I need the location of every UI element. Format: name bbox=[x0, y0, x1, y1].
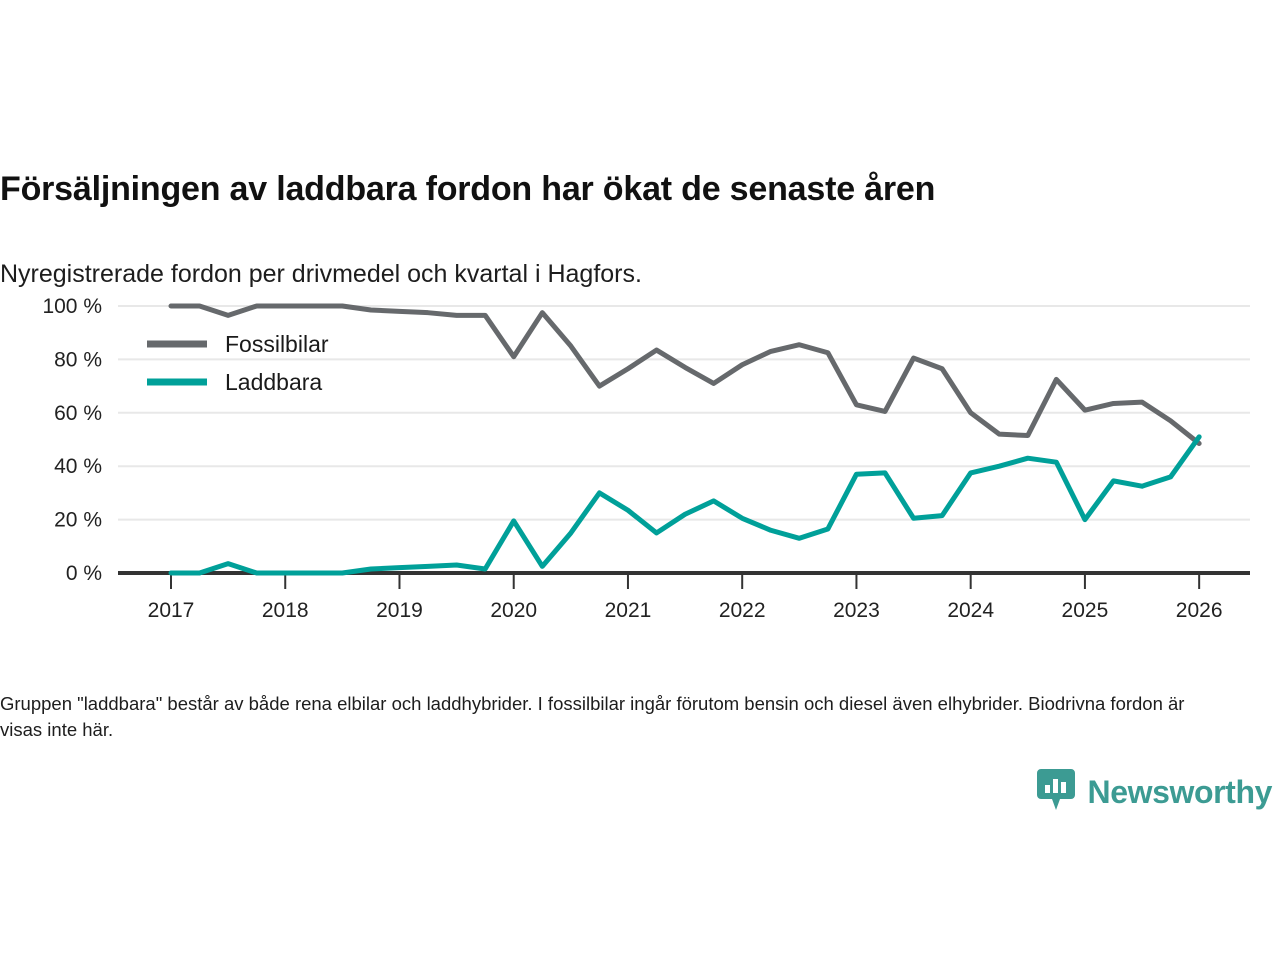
x-axis-tick-marks bbox=[171, 575, 1199, 589]
y-axis-tick-label: 0 % bbox=[66, 562, 102, 585]
x-axis-tick-label: 2024 bbox=[947, 599, 994, 622]
x-axis-tick-label: 2025 bbox=[1062, 599, 1109, 622]
x-axis-tick-label: 2022 bbox=[719, 599, 766, 622]
x-axis-ticks: 2017201820192020202120222023202420252026 bbox=[148, 599, 1223, 622]
chart-svg: 0 %20 %40 %60 %80 %100 % 201720182019202… bbox=[0, 285, 1280, 630]
x-axis-tick-label: 2017 bbox=[148, 599, 195, 622]
y-axis-tick-label: 80 % bbox=[54, 348, 102, 371]
y-axis-tick-label: 40 % bbox=[54, 455, 102, 478]
brand-name: Newsworthy bbox=[1088, 774, 1273, 811]
chart-legend: FossilbilarLaddbara bbox=[147, 331, 329, 395]
page-title: Försäljningen av laddbara fordon har öka… bbox=[0, 170, 1270, 209]
y-axis-ticks: 0 %20 %40 %60 %80 %100 % bbox=[42, 295, 102, 585]
x-axis-tick-label: 2020 bbox=[490, 599, 537, 622]
y-axis-tick-label: 20 % bbox=[54, 509, 102, 532]
series-line-fossilbilar bbox=[171, 306, 1199, 444]
y-axis-tick-label: 60 % bbox=[54, 402, 102, 425]
bar-chart-bubble-icon bbox=[1036, 768, 1076, 817]
legend-label: Laddbara bbox=[225, 369, 322, 395]
chart-page: Försäljningen av laddbara fordon har öka… bbox=[0, 0, 1280, 960]
series-line-laddbara bbox=[171, 437, 1199, 573]
x-axis-tick-label: 2018 bbox=[262, 599, 309, 622]
x-axis-tick-label: 2021 bbox=[605, 599, 652, 622]
chart-footnote: Gruppen "laddbara" består av både rena e… bbox=[0, 691, 1215, 744]
x-axis-tick-label: 2026 bbox=[1176, 599, 1223, 622]
x-axis-tick-label: 2019 bbox=[376, 599, 423, 622]
x-axis-tick-label: 2023 bbox=[833, 599, 880, 622]
newsworthy-logo[interactable]: Newsworthy bbox=[1036, 768, 1273, 817]
legend-label: Fossilbilar bbox=[225, 331, 329, 357]
line-chart: 0 %20 %40 %60 %80 %100 % 201720182019202… bbox=[0, 285, 1280, 630]
y-axis-tick-label: 100 % bbox=[42, 295, 102, 318]
